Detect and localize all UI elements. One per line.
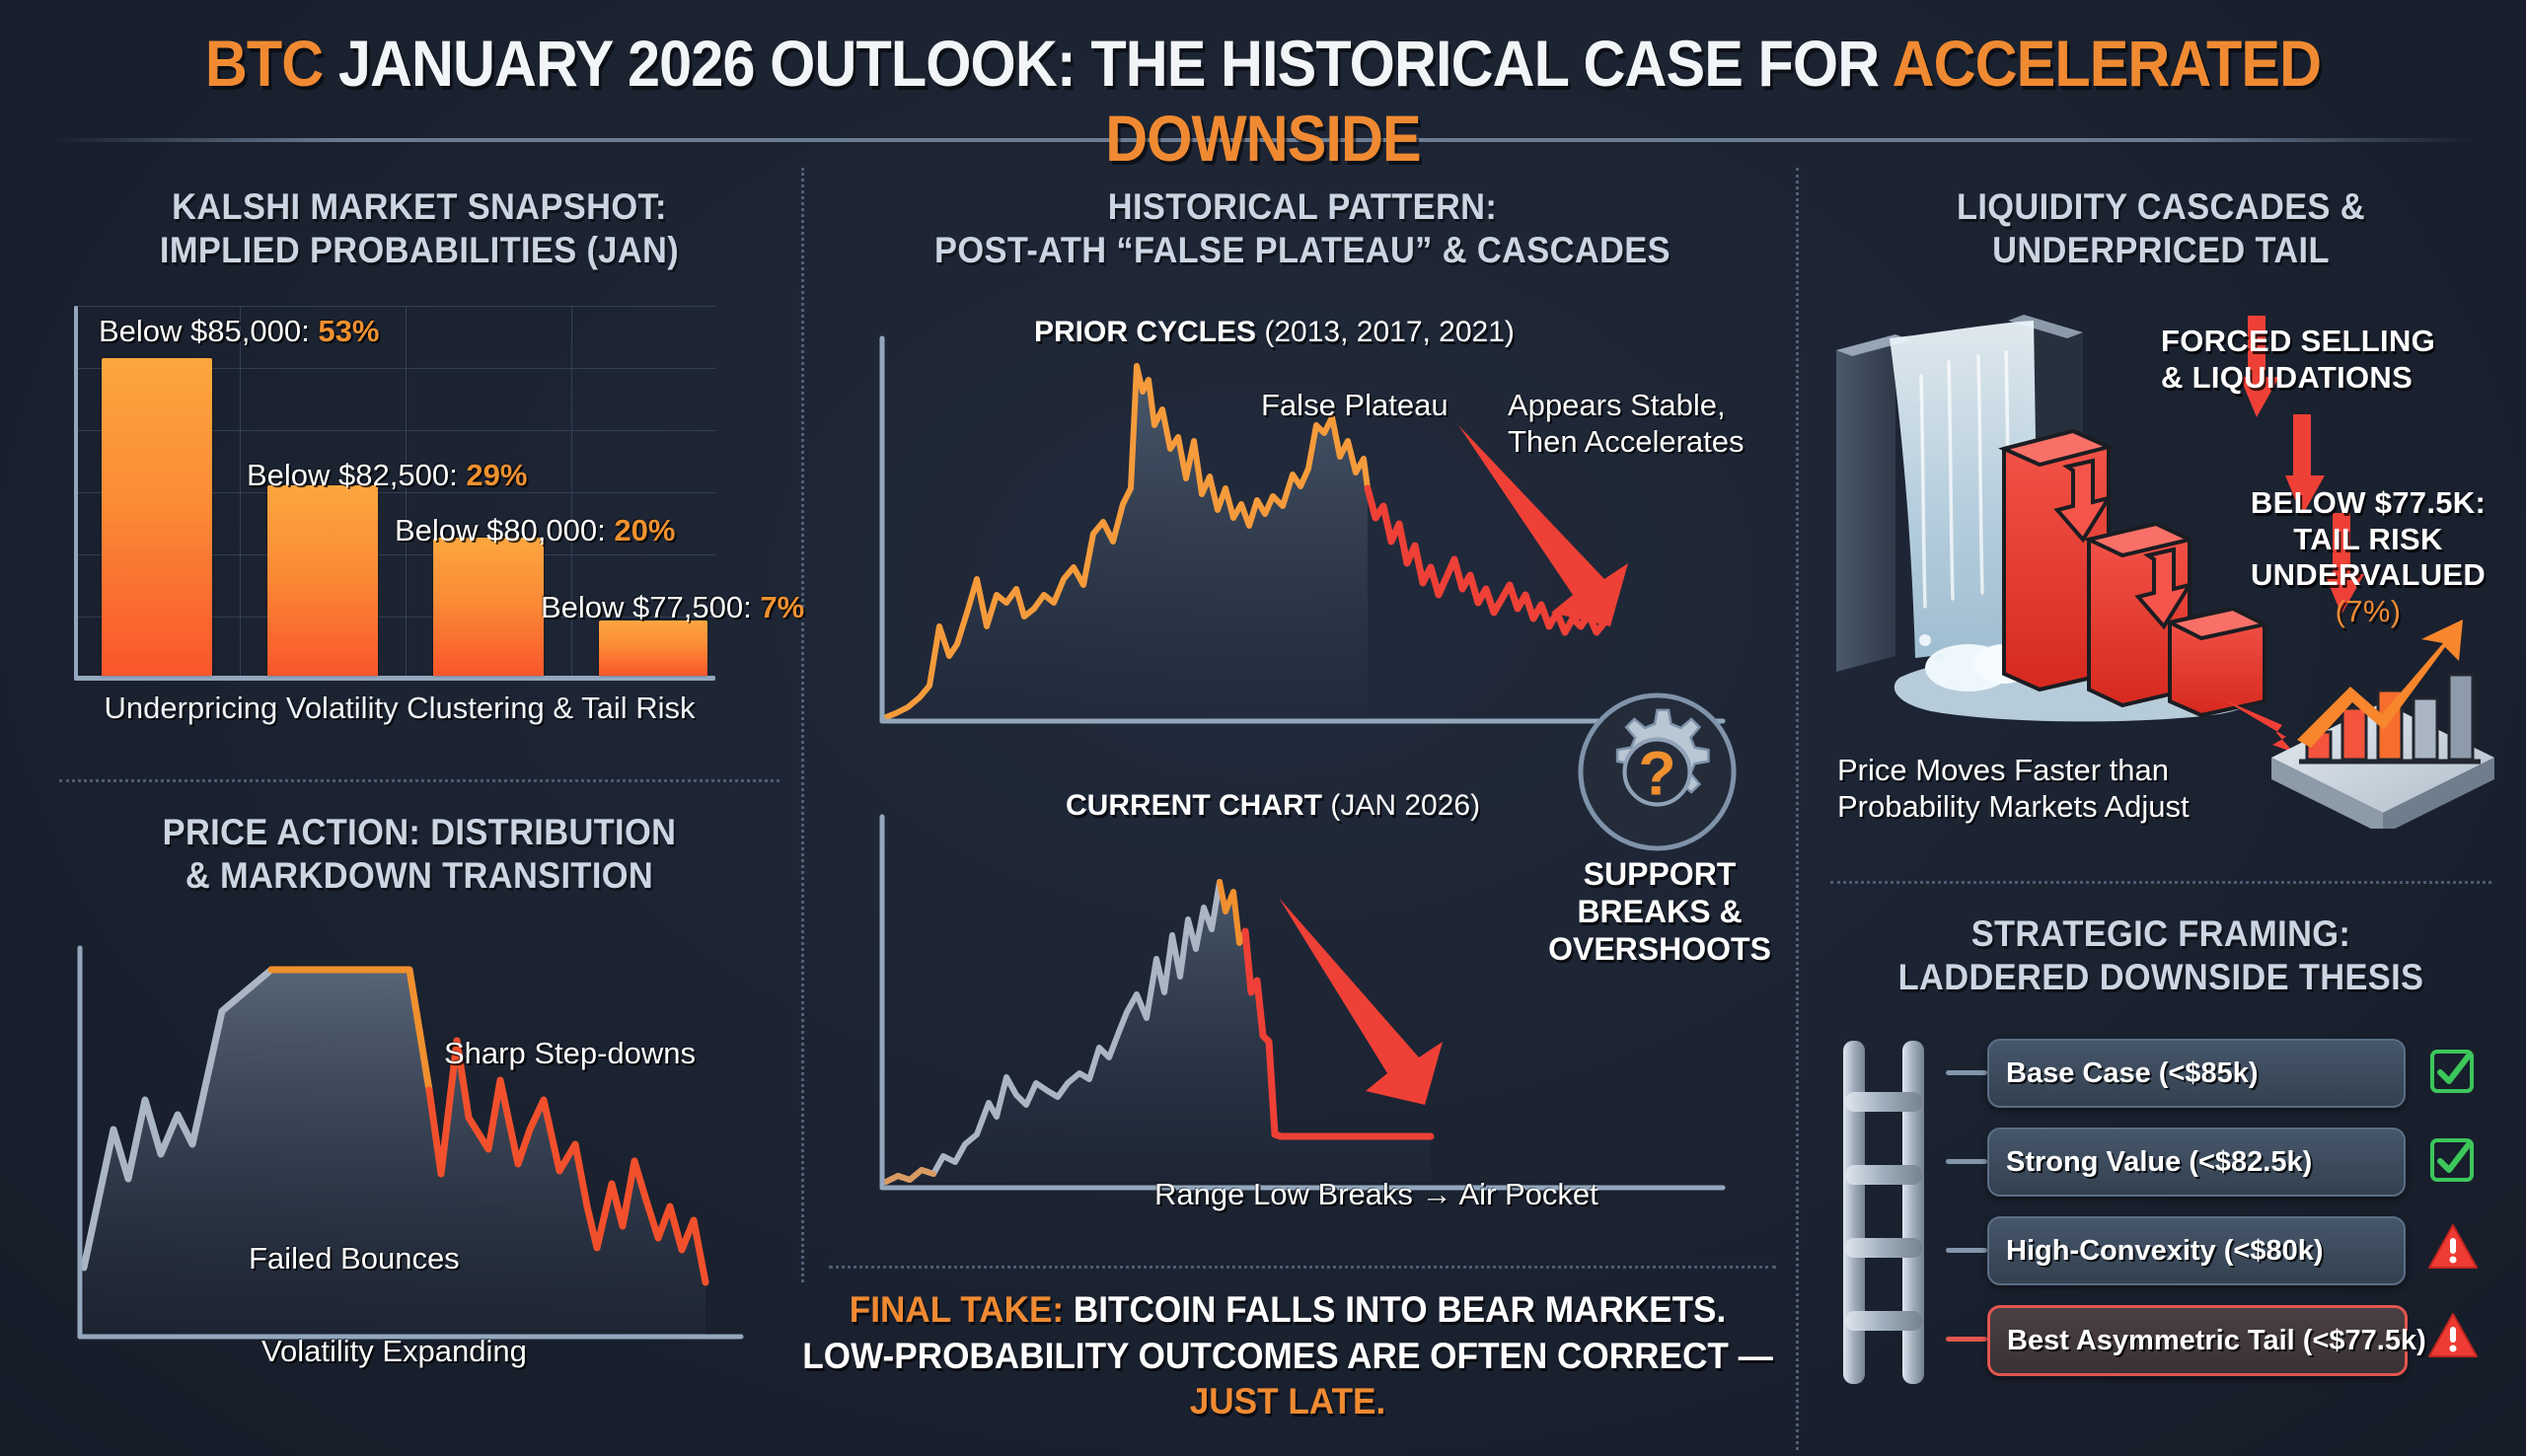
title-main: JANUARY 2026 OUTLOOK: THE HISTORICAL CAS… — [323, 27, 1892, 100]
bar-val-0: 53% — [318, 314, 379, 348]
bar-val-3: 7% — [760, 590, 804, 624]
ladder-stub-4 — [1946, 1337, 1987, 1342]
growth-bar-chart-icon — [2260, 592, 2506, 829]
tail-risk-line2: TAIL RISK — [2210, 522, 2526, 558]
final-take-line1-rest: BITCOIN FALLS INTO BEAR MARKETS. — [1064, 1289, 1726, 1330]
final-take-line2: LOW-PROBABILITY OUTCOMES ARE OFTEN CORRE… — [777, 1334, 1799, 1425]
ladder-label-base-case: Base Case (<$85k) — [1989, 1057, 2259, 1090]
strategic-heading-line2: LADDERED DOWNSIDE THESIS — [1853, 956, 2468, 999]
annotation-volatility-expanding: Volatility Expanding — [261, 1334, 527, 1369]
bar-val-2: 20% — [614, 513, 675, 547]
price-action-svg — [74, 942, 745, 1366]
ladder-stub-2 — [1946, 1159, 1987, 1164]
bar-chart-x-axis — [74, 676, 715, 681]
final-take-lead: FINAL TAKE: — [850, 1289, 1064, 1330]
bar-below-77500 — [599, 620, 707, 676]
ladder-stub-3 — [1946, 1248, 1987, 1253]
annotation-air-pocket: Range Low Breaks → Air Pocket — [1154, 1176, 1598, 1212]
price-action-heading: PRICE ACTION: DISTRIBUTION & MARKDOWN TR… — [59, 811, 780, 897]
ladder-label-best-asymmetric-tail: Best Asymmetric Tail (<$77.5k) — [1990, 1325, 2426, 1357]
bar-label-below-82500: Below $82,500: 29% — [247, 458, 527, 493]
bar-cat-2: Below $80,000 — [395, 513, 597, 547]
bar-chart-caption: Underpricing Volatility Clustering & Tai… — [74, 691, 725, 726]
price-action-heading-line1: PRICE ACTION: DISTRIBUTION — [85, 811, 755, 854]
liquidity-heading-line1: LIQUIDITY CASCADES & — [1853, 185, 2468, 229]
ladder-row-base-case[interactable]: Base Case (<$85k) — [1987, 1039, 2406, 1108]
annotation-appears-stable-l1: Appears Stable, — [1508, 387, 1745, 423]
price-moves-line2: Probability Markets Adjust — [1837, 788, 2190, 825]
liquidity-cascades-heading: LIQUIDITY CASCADES & UNDERPRICED TAIL — [1830, 185, 2491, 271]
page-title: BTC JANUARY 2026 OUTLOOK: THE HISTORICAL… — [0, 26, 2526, 176]
bar-val-1: 29% — [466, 458, 527, 492]
price-action-heading-line2: & MARKDOWN TRANSITION — [85, 854, 755, 898]
kalshi-snapshot-heading: KALSHI MARKET SNAPSHOT: IMPLIED PROBABIL… — [59, 185, 780, 271]
current-chart-svg — [878, 809, 1727, 1213]
bar-label-below-80000: Below $80,000: 20% — [395, 513, 675, 548]
warning-icon-2 — [2427, 1312, 2479, 1359]
bar-label-below-77500: Below $77,500: 7% — [541, 590, 804, 625]
current-chart — [878, 809, 1727, 1213]
ladder-row-high-convexity[interactable]: High-Convexity (<$80k) — [1987, 1216, 2406, 1285]
price-action-chart — [74, 942, 745, 1366]
final-take-line1: FINAL TAKE: BITCOIN FALLS INTO BEAR MARK… — [777, 1287, 1799, 1334]
bar-below-80000 — [433, 538, 544, 676]
final-take-line2-accent: JUST LATE. — [1190, 1381, 1386, 1421]
infographic-canvas: BTC JANUARY 2026 OUTLOOK: THE HISTORICAL… — [0, 0, 2526, 1456]
final-take-line2-start: LOW-PROBABILITY OUTCOMES ARE OFTEN CORRE… — [802, 1336, 1772, 1376]
warning-icon-1 — [2427, 1223, 2479, 1271]
annotation-false-plateau: False Plateau — [1261, 387, 1449, 423]
tail-risk-line1: BELOW $77.5K: — [2210, 485, 2526, 522]
annotation-sharp-step-downs: Sharp Step-downs — [444, 1036, 696, 1071]
ladder-row-strong-value[interactable]: Strong Value (<$82.5k) — [1987, 1128, 2406, 1197]
forced-selling-line2: & LIQUIDATIONS — [2161, 360, 2435, 397]
final-take-block: FINAL TAKE: BITCOIN FALLS INTO BEAR MARK… — [750, 1287, 1825, 1425]
divider-center-right — [1796, 168, 1799, 1450]
forced-selling-line1: FORCED SELLING — [2161, 324, 2435, 360]
ladder-icon — [1831, 1041, 1950, 1386]
bar-chart-y-axis — [74, 306, 78, 681]
kalshi-heading-line1: KALSHI MARKET SNAPSHOT: — [85, 185, 755, 229]
divider-left-center — [801, 168, 804, 1282]
title-accent-btc: BTC — [205, 27, 323, 100]
ladder-row-best-asymmetric-tail[interactable]: Best Asymmetric Tail (<$77.5k) — [1987, 1305, 2408, 1376]
annotation-appears-stable: Appears Stable, Then Accelerates — [1508, 387, 1745, 460]
divider-center-footer — [829, 1266, 1776, 1269]
svg-text:?: ? — [1638, 740, 1675, 809]
ladder-label-high-convexity: High-Convexity (<$80k) — [1989, 1235, 2324, 1268]
check-icon-2 — [2429, 1137, 2475, 1183]
divider-left-panels — [59, 779, 780, 782]
bar-cat-3: Below $77,500 — [541, 590, 743, 624]
historical-heading-line2: POST-ATH “FALSE PLATEAU” & CASCADES — [862, 229, 1744, 272]
check-icon-1 — [2429, 1049, 2475, 1094]
historical-pattern-heading: HISTORICAL PATTERN: POST-ATH “FALSE PLAT… — [829, 185, 1776, 271]
bar-label-below-85000: Below $85,000: 53% — [99, 314, 379, 349]
tail-risk-line3: UNDERVALUED — [2210, 557, 2526, 594]
kalshi-heading-line2: IMPLIED PROBABILITIES (JAN) — [85, 229, 755, 272]
ladder-stub-1 — [1946, 1070, 1987, 1075]
strategic-heading-line1: STRATEGIC FRAMING: — [1853, 912, 2468, 956]
forced-selling-label: FORCED SELLING & LIQUIDATIONS — [2161, 324, 2435, 396]
strategic-framing-heading: STRATEGIC FRAMING: LADDERED DOWNSIDE THE… — [1830, 912, 2491, 998]
annotation-failed-bounces: Failed Bounces — [249, 1241, 460, 1276]
bar-below-85000 — [102, 358, 212, 676]
historical-heading-line1: HISTORICAL PATTERN: — [862, 185, 1744, 229]
liquidity-heading-line2: UNDERPRICED TAIL — [1853, 229, 2468, 272]
ladder-label-strong-value: Strong Value (<$82.5k) — [1989, 1146, 2312, 1179]
bar-cat-1: Below $82,500 — [247, 458, 449, 492]
divider-right-panels — [1830, 881, 2491, 884]
price-moves-line1: Price Moves Faster than — [1837, 752, 2190, 788]
price-moves-faster-label: Price Moves Faster than Probability Mark… — [1837, 752, 2190, 825]
bar-cat-0: Below $85,000 — [99, 314, 301, 348]
bar-below-82500 — [267, 485, 378, 676]
annotation-appears-stable-l2: Then Accelerates — [1508, 423, 1745, 460]
